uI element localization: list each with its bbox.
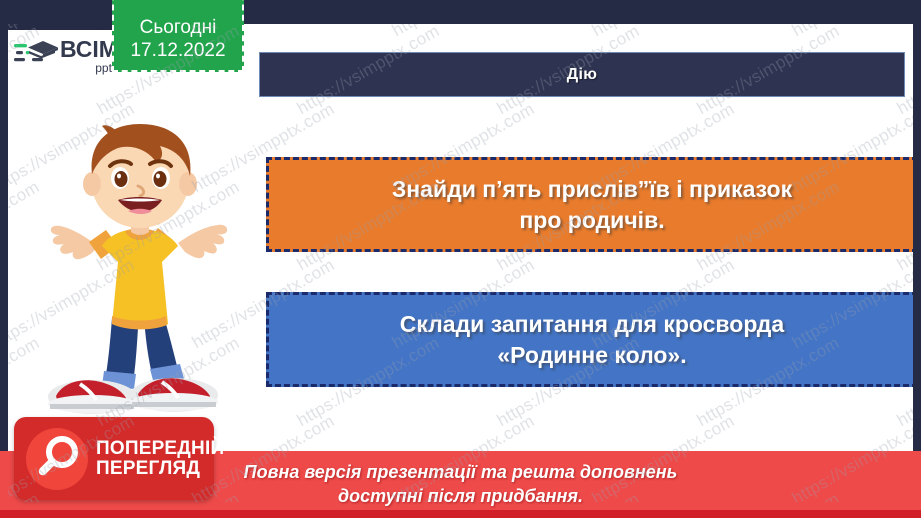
task-2-line-2: «Родинне коло». <box>497 340 686 370</box>
header-bar: Дію <box>259 52 905 97</box>
task-box-find-proverbs: Знайди п’ять прислів”їв і приказок про р… <box>266 157 913 252</box>
logo-name: ВСІМ <box>60 38 118 61</box>
graduation-cap-icon <box>14 39 58 73</box>
banner-line-2: доступні після придбання. <box>338 485 583 508</box>
today-label: Сьогодні <box>140 17 217 39</box>
task-2-line-1: Склади запитання для кросворда <box>400 309 784 339</box>
preview-badge[interactable]: ПОПЕРЕДНІЙ ПЕРЕГЛЯД <box>14 417 214 500</box>
preview-badge-text: ПОПЕРЕДНІЙ ПЕРЕГЛЯД <box>96 439 224 479</box>
page-title: Дію <box>567 66 597 84</box>
task-1-line-1: Знайди п’ять прислів”їв і приказок <box>392 174 792 204</box>
preview-badge-line-2: ПЕРЕГЛЯД <box>96 459 224 479</box>
watermark-text: https://vsimpptx.com <box>389 24 538 41</box>
banner-line-1: Повна версія презентації та решта доповн… <box>244 461 678 484</box>
task-box-crossword-questions: Склади запитання для кросворда «Родинне … <box>266 292 913 387</box>
today-date-badge: Сьогодні 17.12.2022 <box>112 0 244 72</box>
magnifier-icon <box>26 428 88 490</box>
logo-subtitle: pptx <box>60 62 118 74</box>
slide-frame: ВСІМ pptx <box>0 0 921 518</box>
preview-badge-line-1: ПОПЕРЕДНІЙ <box>96 439 224 459</box>
cartoon-boy-illustration <box>26 112 256 422</box>
watermark-text: https://vsimpptx.com <box>789 24 913 41</box>
today-date-value: 17.12.2022 <box>130 39 225 63</box>
watermark-text: https://vsimpptx.com <box>589 24 738 41</box>
task-1-line-2: про родичів. <box>519 205 664 235</box>
